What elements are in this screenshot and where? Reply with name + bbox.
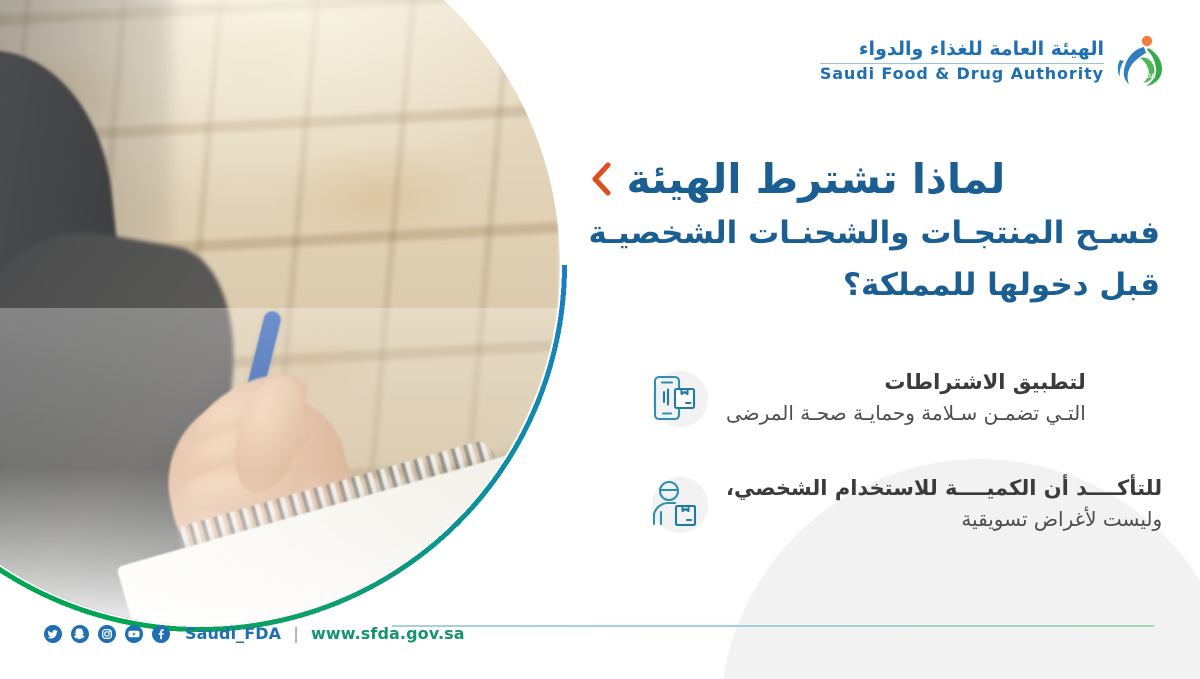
warehouse-inspector-photo: [0, 0, 560, 625]
chevron-left-icon: [589, 162, 613, 196]
facebook-icon[interactable]: [152, 625, 170, 643]
bullet-strong-line: للتأكــــد أن الكميــــة للاستخدام الشخص…: [726, 473, 1162, 505]
photo-bottom-fade: [0, 467, 560, 625]
bullet-light-line: التـي تضمـن سـلامة وحمايـة صحـة المرضى: [726, 398, 1086, 429]
logo-arabic-name: الهيئة العامة للغذاء والدواء: [820, 40, 1104, 60]
headline-primary-row: لماذا تشترط الهيئة: [589, 155, 1160, 203]
person-holding-box-icon: [640, 469, 710, 539]
instagram-icon[interactable]: [98, 625, 116, 643]
footer-rule: [392, 625, 1154, 627]
bullet-text: لتطبيق الاشتراطات التـي تضمـن سـلامة وحم…: [726, 367, 1086, 430]
bullet-item-requirements: لتطبيق الاشتراطات التـي تضمـن سـلامة وحم…: [640, 363, 1160, 433]
headline-line-1: لماذا تشترط الهيئة: [627, 155, 1006, 203]
footer-website-url[interactable]: www.sfda.gov.sa: [311, 624, 465, 643]
headline-line-2: فسـح المنتجـات والشحنـات الشخصيـة: [589, 211, 1160, 255]
logo-english-name: Saudi Food & Drug Authority: [820, 66, 1104, 83]
bullet-item-personal-use: للتأكــــد أن الكميــــة للاستخدام الشخص…: [640, 469, 1160, 539]
snapchat-icon[interactable]: [71, 625, 89, 643]
bullet-strong-line: لتطبيق الاشتراطات: [726, 367, 1086, 399]
bullet-list: لتطبيق الاشتراطات التـي تضمـن سـلامة وحم…: [640, 363, 1160, 575]
photo-disc-container: [0, 0, 570, 635]
smartphone-package-scan-icon: [640, 363, 710, 433]
sfda-logo: الهيئة العامة للغذاء والدواء Saudi Food …: [820, 34, 1166, 88]
bullet-text: للتأكــــد أن الكميــــة للاستخدام الشخص…: [726, 473, 1162, 536]
footer-handle[interactable]: Saudi_FDA: [185, 624, 281, 643]
footer-bar: Saudi_FDA | www.sfda.gov.sa: [44, 624, 465, 643]
infographic-poster: الهيئة العامة للغذاء والدواء Saudi Food …: [0, 0, 1200, 679]
bullet-light-line: وليست لأغراض تسويقية: [726, 504, 1162, 535]
svg-text:SFDA: SFDA: [1139, 73, 1156, 80]
twitter-icon[interactable]: [44, 625, 62, 643]
sfda-running-figure-logo-icon: SFDA: [1114, 34, 1166, 88]
logo-wordmark: الهيئة العامة للغذاء والدواء Saudi Food …: [820, 40, 1104, 83]
youtube-icon[interactable]: [125, 625, 143, 643]
footer-separator: |: [293, 624, 299, 643]
headline-block: لماذا تشترط الهيئة فسـح المنتجـات والشحن…: [589, 155, 1160, 307]
headline-line-3: قبل دخولها للمملكة؟: [589, 263, 1160, 307]
